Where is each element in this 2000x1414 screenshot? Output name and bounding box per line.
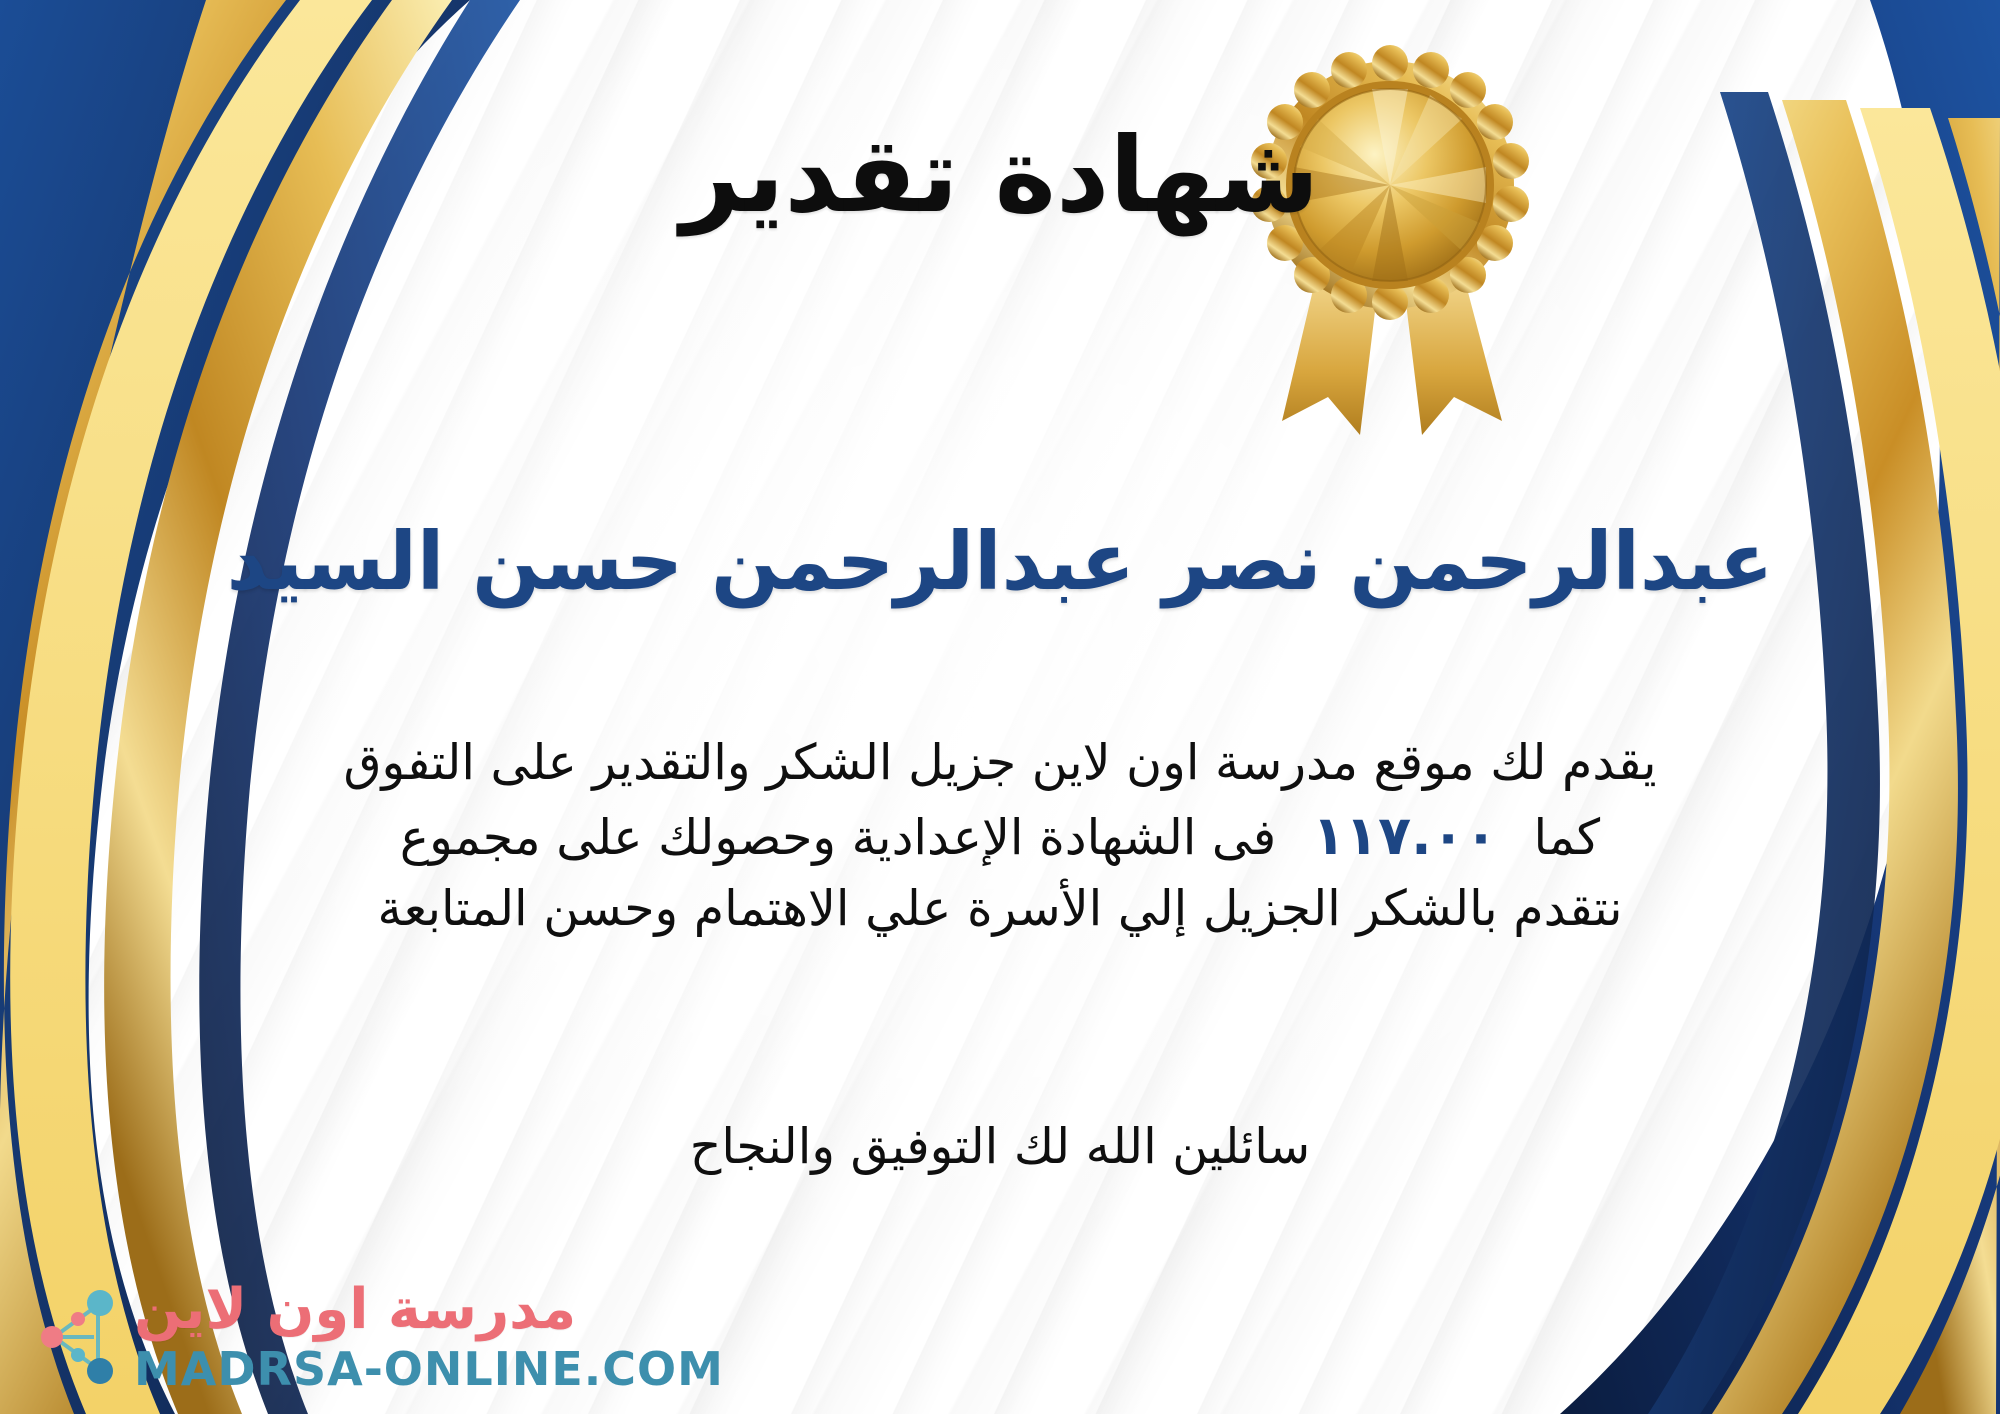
closing-line: سائلين الله لك التوفيق والنجاح <box>0 1118 2000 1175</box>
logo-arabic-name: مدرسة اون لاين <box>134 1282 576 1338</box>
body-line-2-prefix: فى الشهادة الإعدادية وحصولك على مجموع <box>400 803 1276 873</box>
body-line-2: كما ١١٧.٠٠ فى الشهادة الإعدادية وحصولك ع… <box>180 798 1820 875</box>
grade-value: ١١٧.٠٠ <box>1312 798 1497 875</box>
certificate-body: يقدم لك موقع مدرسة اون لاين جزيل الشكر و… <box>180 728 1820 944</box>
site-logo[interactable]: مدرسة اون لاين MADRSA-ONLINE.COM <box>28 1282 724 1392</box>
certificate-title: شهادة تقدير <box>0 118 2000 232</box>
body-line-2-suffix: كما <box>1534 803 1601 873</box>
certificate-canvas: شهادة تقدير عبدالرحمن نصر عبدالرحمن حسن … <box>0 0 2000 1414</box>
logo-text-group: مدرسة اون لاين MADRSA-ONLINE.COM <box>134 1282 724 1392</box>
recipient-name: عبدالرحمن نصر عبدالرحمن حسن السيد <box>0 516 2000 608</box>
body-line-1: يقدم لك موقع مدرسة اون لاين جزيل الشكر و… <box>180 728 1820 798</box>
network-nodes-icon <box>28 1285 124 1389</box>
body-line-3: نتقدم بالشكر الجزيل إلي الأسرة علي الاهت… <box>180 874 1820 944</box>
logo-website-url: MADRSA-ONLINE.COM <box>134 1346 724 1392</box>
